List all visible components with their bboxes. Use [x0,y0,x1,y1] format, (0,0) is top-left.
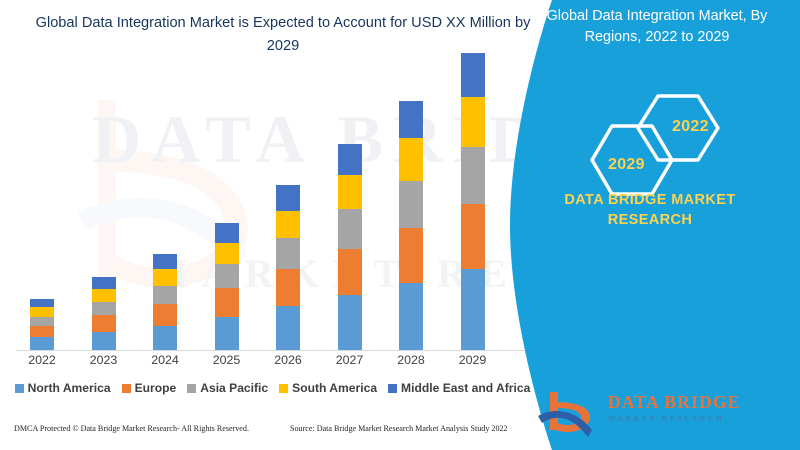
bar-segment-2023-1 [92,315,116,331]
logo-title: DATA BRIDGE [608,392,741,413]
legend-swatch-icon [388,384,397,393]
hexagon-label-2029: 2029 [608,156,645,174]
legend-item-2[interactable]: Asia Pacific [187,381,268,395]
bar-2023[interactable] [92,277,116,350]
chart-plot-area [0,60,545,352]
bar-segment-2022-1 [30,326,54,338]
x-tick-2029: 2029 [443,353,503,367]
brand-panel-content: Global Data Integration Market, By Regio… [500,0,800,450]
bar-segment-2025-2 [215,264,239,288]
bar-2027[interactable] [338,144,362,350]
bar-segment-2027-4 [338,144,362,175]
bar-segment-2025-1 [215,288,239,317]
chart-baseline [16,350,530,351]
bar-2024[interactable] [153,254,177,350]
brand-name-line2: RESEARCH [520,212,780,228]
bar-2022[interactable] [30,299,54,350]
bar-segment-2028-4 [399,101,423,138]
x-tick-2023: 2023 [74,353,134,367]
bar-segment-2025-4 [215,223,239,243]
hexagon-outline-icon [580,92,740,200]
bar-segment-2024-2 [153,286,177,304]
bar-segment-2029-0 [461,269,485,350]
bar-segment-2029-2 [461,147,485,203]
bar-segment-2024-1 [153,304,177,326]
logo-subtitle: MARKET RESEARCH [608,414,741,423]
legend-label: South America [292,381,377,395]
bar-segment-2028-3 [399,138,423,181]
bar-segment-2027-0 [338,295,362,350]
bar-segment-2027-2 [338,209,362,248]
x-tick-2025: 2025 [197,353,257,367]
brand-panel: Global Data Integration Market, By Regio… [500,0,800,450]
hexagon-label-2022: 2022 [672,118,709,136]
bar-segment-2027-3 [338,175,362,210]
bar-segment-2023-2 [92,302,116,316]
bar-segment-2023-4 [92,277,116,289]
chart-legend: North AmericaEuropeAsia PacificSouth Ame… [0,381,545,395]
bar-2025[interactable] [215,223,239,350]
bar-segment-2025-0 [215,317,239,350]
x-axis: 20222023202420252026202720282029 [0,353,545,373]
bar-segment-2026-1 [276,269,300,306]
x-tick-2026: 2026 [258,353,318,367]
x-tick-2022: 2022 [12,353,72,367]
bar-segment-2022-0 [30,337,54,350]
footer: DMCA Protected © Data Bridge Market Rese… [0,424,560,444]
bar-2029[interactable] [461,53,485,350]
bar-segment-2023-0 [92,332,116,350]
bar-2026[interactable] [276,185,300,350]
bar-segment-2024-3 [153,269,177,285]
bar-segment-2029-4 [461,53,485,97]
bar-segment-2028-1 [399,228,423,283]
legend-swatch-icon [187,384,196,393]
infographic-root: DATA BRIDGE MARKET RESEARCH Global Data … [0,0,800,450]
legend-label: Asia Pacific [200,381,268,395]
panel-title: Global Data Integration Market, By Regio… [528,6,786,48]
bar-segment-2027-1 [338,249,362,295]
bar-segment-2024-0 [153,326,177,350]
bar-segment-2022-4 [30,299,54,307]
brand-name-line1: DATA BRIDGE MARKET [520,192,780,208]
legend-swatch-icon [122,384,131,393]
company-logo: DATA BRIDGE MARKET RESEARCH [536,390,776,442]
footer-copyright: DMCA Protected © Data Bridge Market Rese… [14,424,249,433]
bar-2028[interactable] [399,101,423,350]
legend-item-3[interactable]: South America [279,381,377,395]
legend-label: Europe [135,381,177,395]
bar-segment-2023-3 [92,289,116,302]
bar-segment-2026-2 [276,238,300,269]
bar-segment-2025-3 [215,243,239,264]
x-tick-2028: 2028 [381,353,441,367]
bar-segment-2026-3 [276,211,300,239]
bar-segment-2026-4 [276,185,300,210]
bar-segment-2022-2 [30,317,54,326]
footer-source: Source: Data Bridge Market Research Mark… [290,424,508,433]
bar-segment-2024-4 [153,254,177,269]
hexagon-group: 2022 2029 [580,92,740,200]
bar-segment-2028-2 [399,181,423,228]
legend-swatch-icon [279,384,288,393]
x-tick-2027: 2027 [320,353,380,367]
bar-segment-2026-0 [276,306,300,350]
page-title: Global Data Integration Market is Expect… [18,12,548,58]
logo-text: DATA BRIDGE MARKET RESEARCH [608,392,741,423]
legend-swatch-icon [15,384,24,393]
legend-item-1[interactable]: Europe [122,381,177,395]
legend-label: North America [28,381,111,395]
legend-item-0[interactable]: North America [15,381,111,395]
bar-segment-2029-1 [461,204,485,270]
x-tick-2024: 2024 [135,353,195,367]
bar-segment-2029-3 [461,97,485,148]
bar-segment-2028-0 [399,283,423,350]
bar-segment-2022-3 [30,307,54,316]
